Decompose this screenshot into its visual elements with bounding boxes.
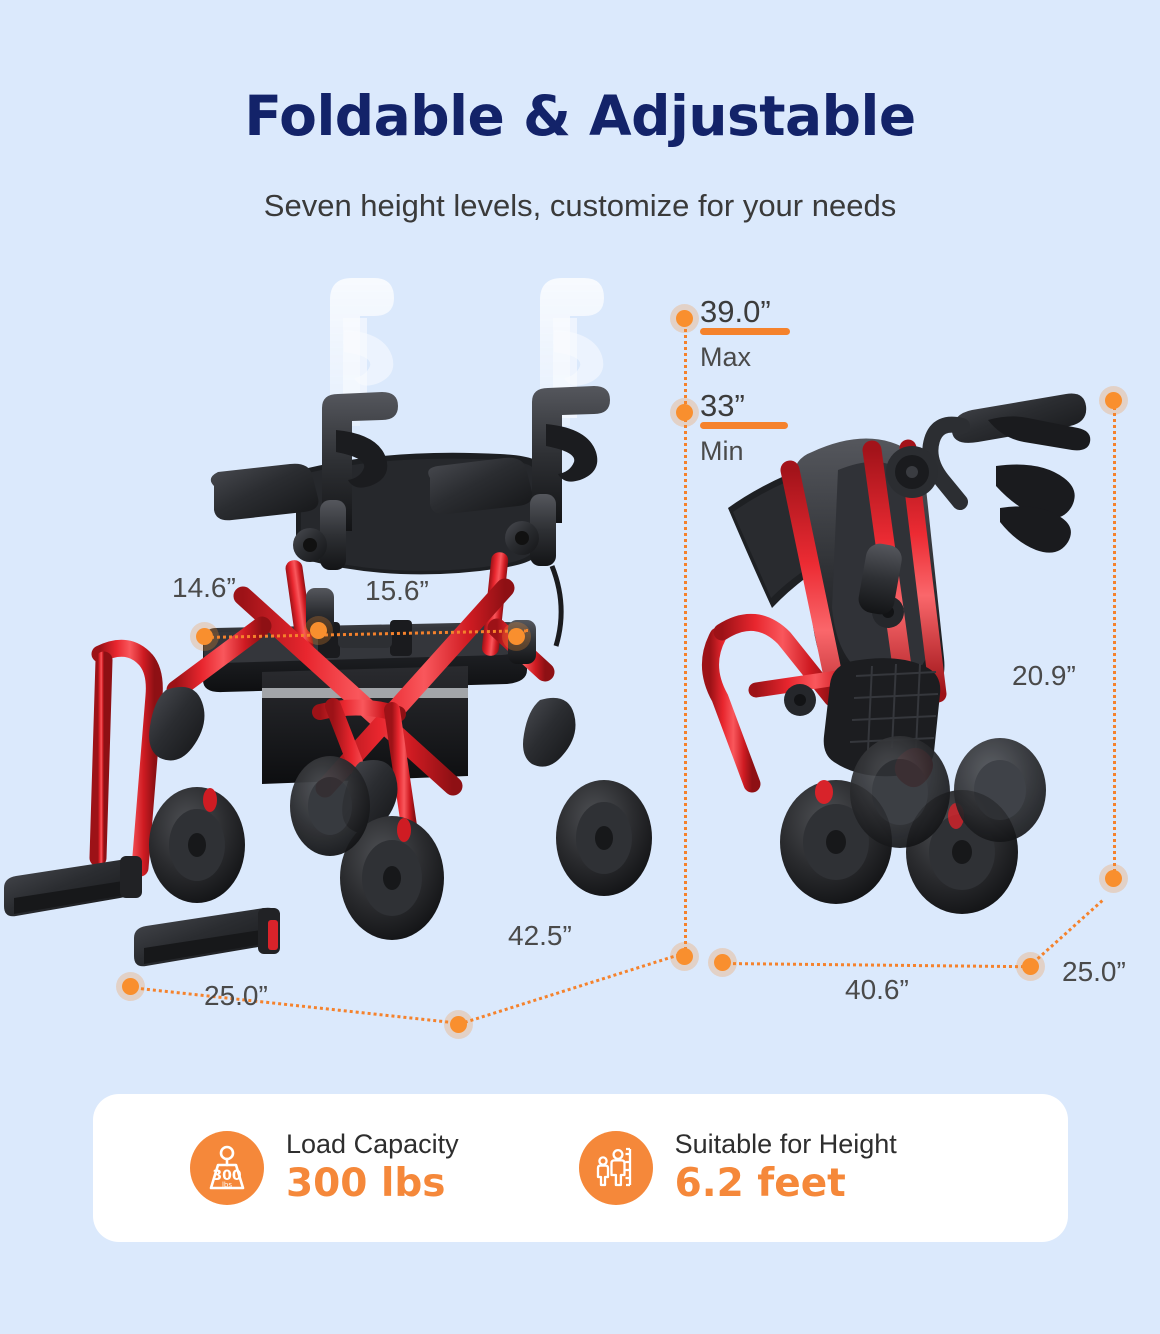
feature-label: Suitable for Height: [675, 1129, 897, 1160]
feature-load-capacity: 300 lbs Load Capacity 300 lbs: [190, 1129, 459, 1207]
guide-dot: [676, 310, 693, 327]
feature-text-block: Suitable for Height 6.2 feet: [675, 1129, 897, 1207]
guide-dot: [122, 978, 139, 995]
wheel: [954, 738, 1046, 842]
height-max-underline: [700, 328, 790, 335]
wheel: [149, 787, 245, 903]
folded-rollator-view: [710, 394, 1090, 915]
height-max-caption: Max: [700, 342, 790, 373]
folded-height-guide-line: [1113, 400, 1116, 878]
dimension-width-folded: 25.0”: [1062, 956, 1126, 988]
height-min-underline: [700, 422, 788, 429]
wheel: [290, 756, 370, 856]
guide-dot: [310, 622, 327, 639]
infographic-page: Foldable & Adjustable Seven height level…: [0, 0, 1160, 1334]
feature-label: Load Capacity: [286, 1129, 459, 1160]
wheel: [780, 780, 892, 904]
wheel: [906, 790, 1018, 914]
guide-dot: [450, 1016, 467, 1033]
width-guide-line-left: [130, 986, 460, 1025]
feature-suitable-height: Suitable for Height 6.2 feet: [579, 1129, 897, 1207]
dimension-width-unfolded: 25.0”: [204, 980, 268, 1012]
svg-text:lbs: lbs: [222, 1181, 232, 1189]
guide-dot: [714, 954, 731, 971]
dimension-height-folded: 20.9”: [1012, 660, 1076, 692]
feature-value: 6.2 feet: [675, 1162, 897, 1207]
height-callout-min: 33” Min: [700, 390, 788, 467]
dimension-armrest-height: 14.6”: [172, 572, 236, 604]
height-min-caption: Min: [700, 436, 788, 467]
wheel: [556, 780, 652, 896]
height-min-value: 33”: [700, 390, 788, 421]
folded-length-guide-line: [722, 962, 1030, 968]
length-guide-line: [458, 951, 688, 1026]
weight-300lbs-icon: 300 lbs: [190, 1131, 264, 1205]
height-max-value: 39.0”: [700, 296, 790, 327]
page-title: Foldable & Adjustable: [0, 84, 1160, 148]
dimension-length-unfolded: 42.5”: [508, 920, 572, 952]
page-subtitle: Seven height levels, customize for your …: [0, 188, 1160, 224]
guide-dot: [196, 628, 213, 645]
guide-dot: [1022, 958, 1039, 975]
feature-card: 300 lbs Load Capacity 300 lbs: [93, 1094, 1068, 1242]
feature-value: 300 lbs: [286, 1162, 459, 1207]
guide-dot: [676, 404, 693, 421]
guide-dot: [676, 948, 693, 965]
people-height-ruler-icon: [579, 1131, 653, 1205]
guide-dot: [1105, 392, 1122, 409]
feature-text-block: Load Capacity 300 lbs: [286, 1129, 459, 1207]
guide-dot: [1105, 870, 1122, 887]
dimension-length-folded: 40.6”: [845, 974, 909, 1006]
height-callout-max: 39.0” Max: [700, 296, 790, 373]
guide-dot: [508, 628, 525, 645]
wheel: [340, 816, 444, 940]
dimension-seat-width: 15.6”: [365, 575, 429, 607]
wheel: [850, 736, 950, 848]
unfolded-rollator-view: [4, 278, 652, 966]
seat-width-guide-line: [204, 629, 528, 639]
